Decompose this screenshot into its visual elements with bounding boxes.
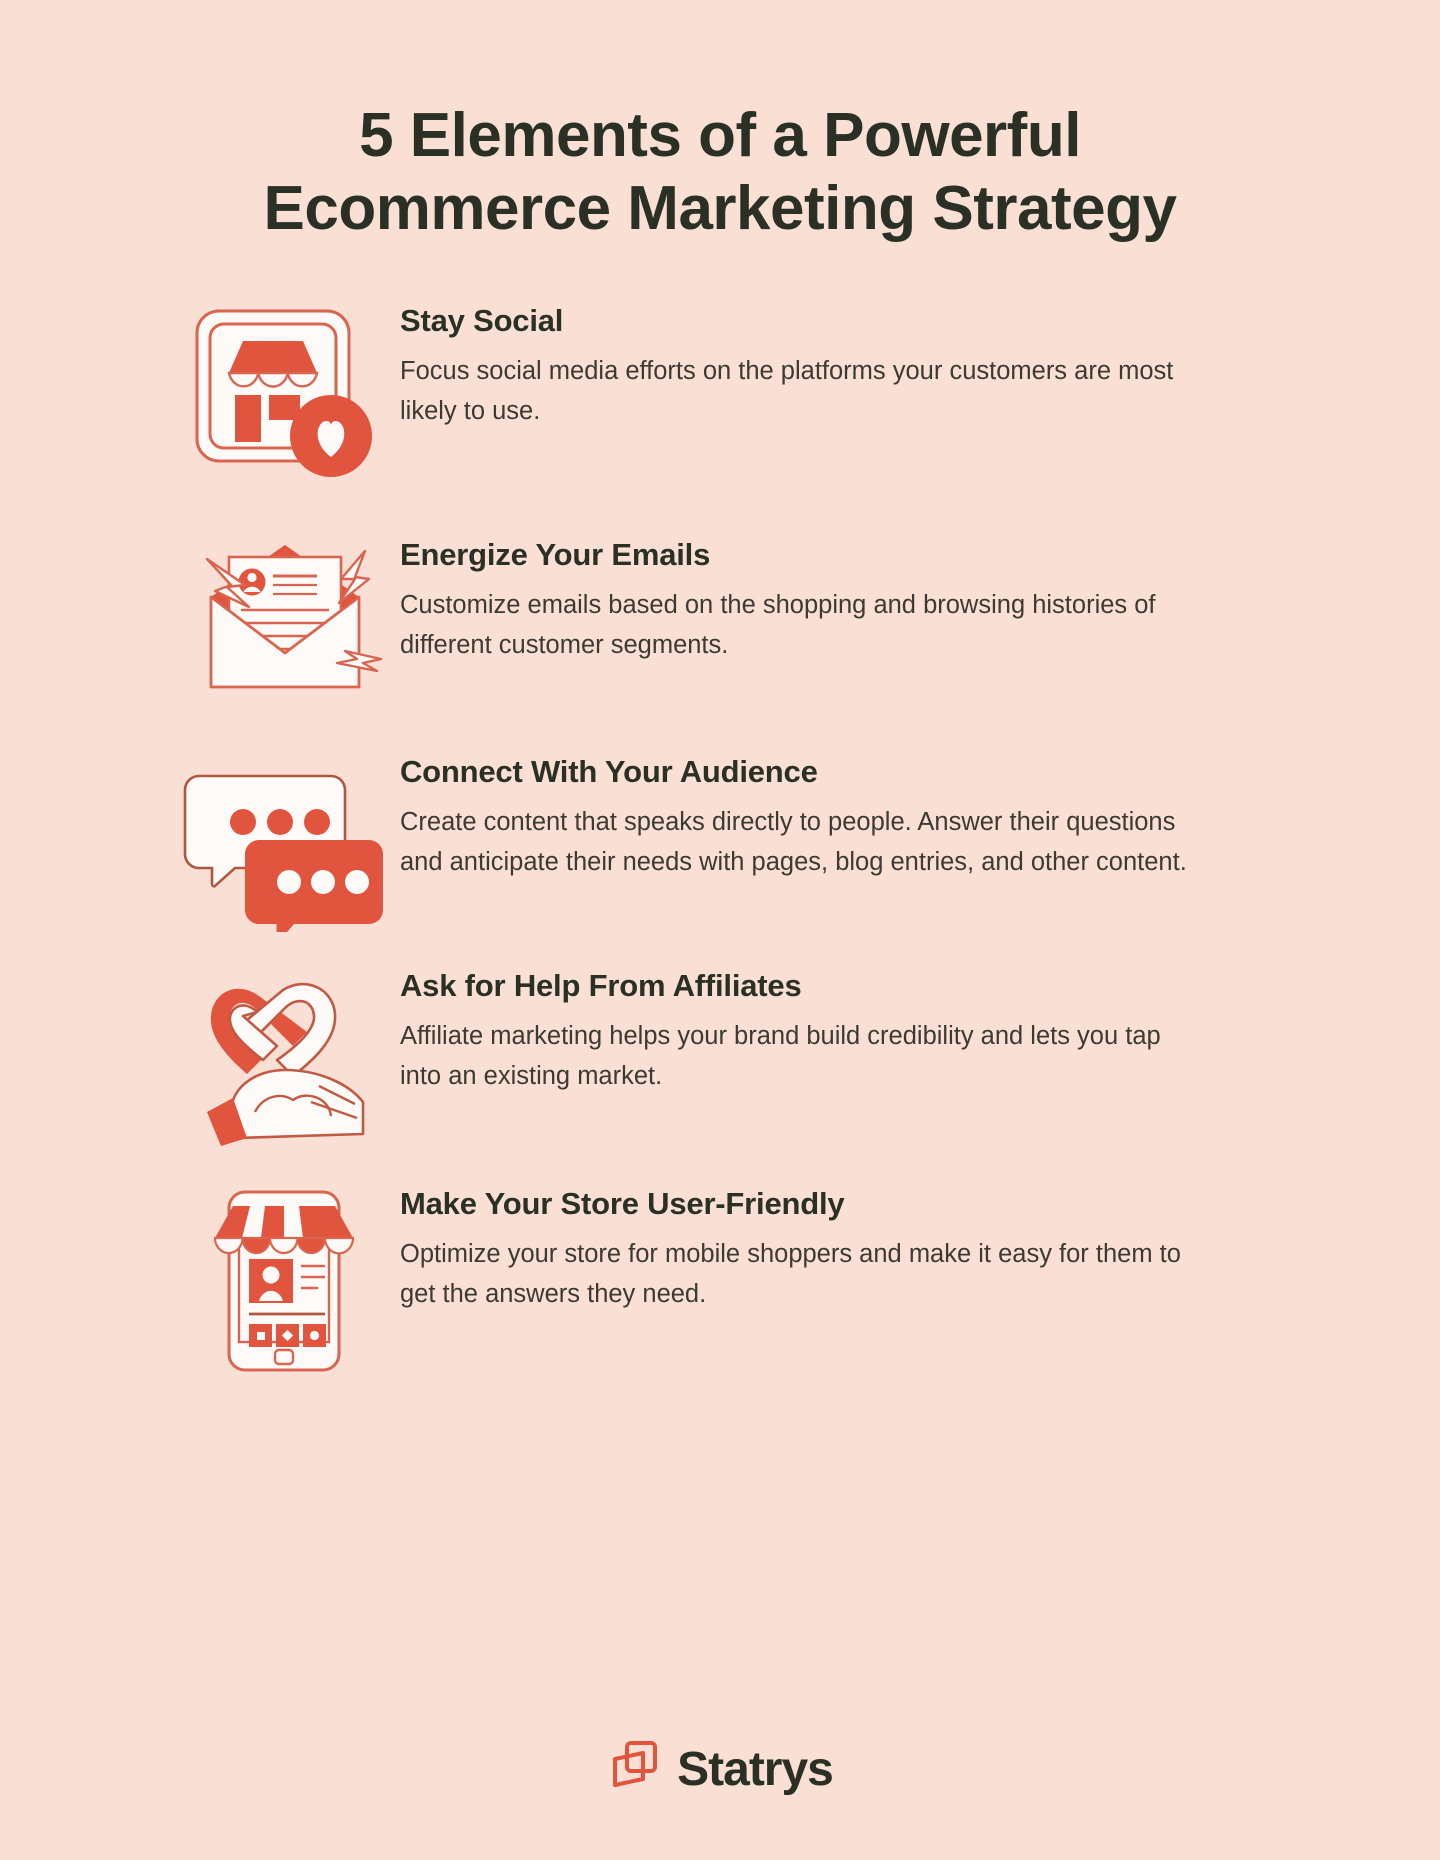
list-item-description: Optimize your store for mobile shoppers … bbox=[400, 1234, 1190, 1315]
chat-bubbles-icon bbox=[170, 748, 400, 932]
affiliate-handshake-icon bbox=[170, 962, 400, 1146]
infographic-page: 5 Elements of a Powerful Ecommerce Marke… bbox=[0, 0, 1440, 1860]
list-item: Stay Social Focus social media efforts o… bbox=[170, 297, 1320, 491]
list-item: Ask for Help From Affiliates Affiliate m… bbox=[170, 962, 1320, 1146]
elements-list: Stay Social Focus social media efforts o… bbox=[0, 297, 1440, 1374]
footer-logo: Statrys bbox=[0, 1739, 1440, 1800]
mobile-storefront-icon bbox=[170, 1180, 400, 1374]
storefront-heart-icon bbox=[170, 297, 400, 491]
email-envelope-icon bbox=[170, 531, 400, 710]
list-item-title: Stay Social bbox=[400, 303, 1320, 339]
list-item-text: Energize Your Emails Customize emails ba… bbox=[400, 531, 1320, 666]
list-item-description: Focus social media efforts on the platfo… bbox=[400, 351, 1190, 432]
list-item-title: Make Your Store User-Friendly bbox=[400, 1186, 1320, 1222]
brand-name: Statrys bbox=[677, 1742, 833, 1797]
list-item-text: Ask for Help From Affiliates Affiliate m… bbox=[400, 962, 1320, 1097]
list-item-title: Ask for Help From Affiliates bbox=[400, 968, 1320, 1004]
page-title-line-1: 5 Elements of a Powerful bbox=[0, 100, 1440, 173]
statrys-cards-logo-icon bbox=[607, 1739, 663, 1800]
list-item-description: Create content that speaks directly to p… bbox=[400, 802, 1190, 883]
list-item-description: Affiliate marketing helps your brand bui… bbox=[400, 1016, 1190, 1097]
list-item-description: Customize emails based on the shopping a… bbox=[400, 585, 1190, 666]
page-title-line-2: Ecommerce Marketing Strategy bbox=[0, 173, 1440, 246]
list-item: Energize Your Emails Customize emails ba… bbox=[170, 531, 1320, 710]
list-item-text: Make Your Store User-Friendly Optimize y… bbox=[400, 1180, 1320, 1315]
list-item-text: Stay Social Focus social media efforts o… bbox=[400, 297, 1320, 432]
list-item: Connect With Your Audience Create conten… bbox=[170, 748, 1320, 932]
page-title: 5 Elements of a Powerful Ecommerce Marke… bbox=[0, 0, 1440, 245]
list-item-title: Energize Your Emails bbox=[400, 537, 1320, 573]
list-item: Make Your Store User-Friendly Optimize y… bbox=[170, 1180, 1320, 1374]
list-item-text: Connect With Your Audience Create conten… bbox=[400, 748, 1320, 883]
list-item-title: Connect With Your Audience bbox=[400, 754, 1320, 790]
